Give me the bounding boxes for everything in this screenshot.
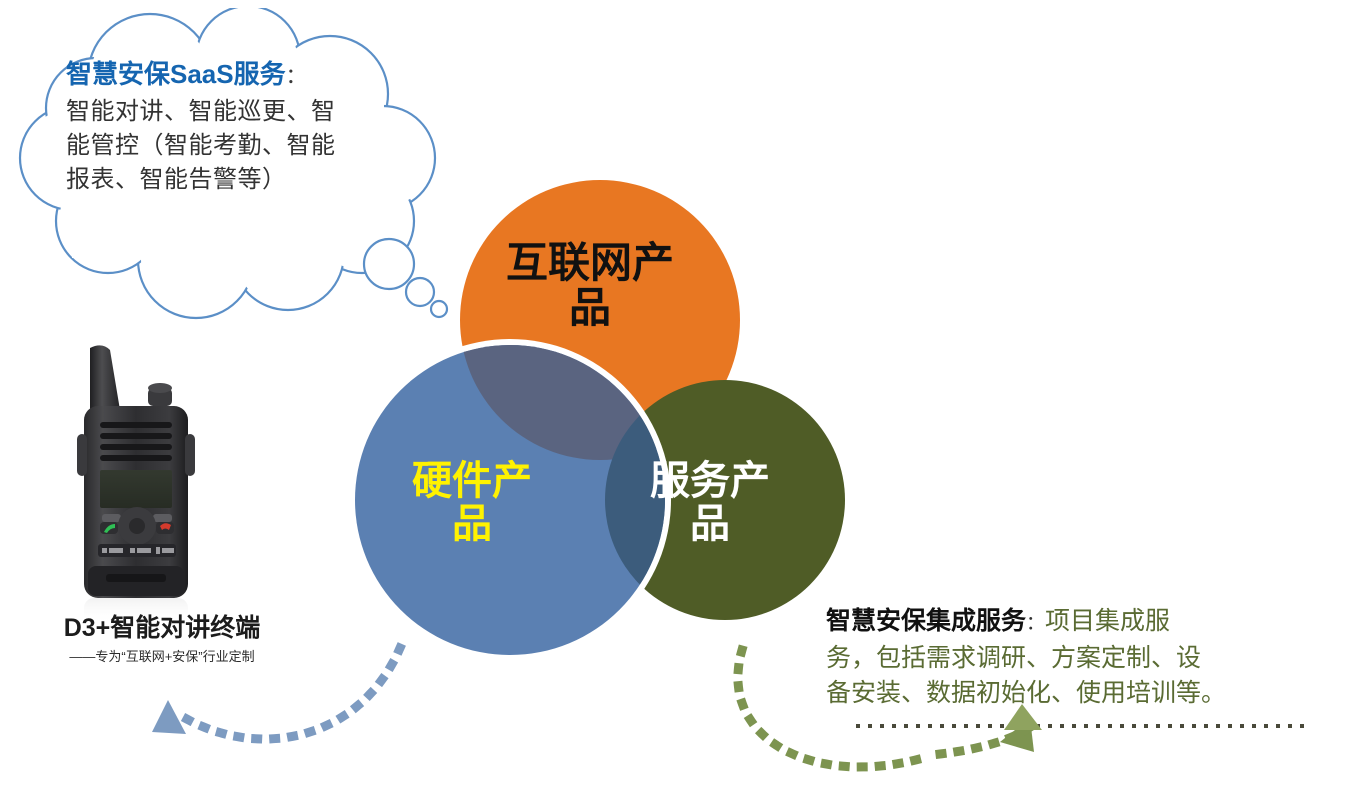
integration-service-line-1: 智慧安保集成服务：项目集成服 [826,604,1326,641]
integration-service-heading: 智慧安保集成服务 [826,607,1026,635]
battery-vent [106,574,166,582]
left-arrowhead [152,700,186,734]
integration-service-line-2: 务，包括需求调研、方案定制、设 [826,641,1326,676]
cloud-title-colon: ： [286,65,307,88]
device-tagline: ——专为“互联网+安保”行业定制 [22,646,302,665]
integration-service-line-1-tail: 项目集成服 [1045,607,1170,635]
device-caption: D3+智能对讲终端 ——专为“互联网+安保”行业定制 [22,608,302,665]
integration-service-separator: ： [1026,613,1045,634]
right-arrowhead [1000,718,1034,752]
integration-service-text-block: 智慧安保集成服务：项目集成服 务，包括需求调研、方案定制、设 备安装、数据初始化… [826,604,1326,711]
integration-service-line-3: 备安装、数据初始化、使用培训等。 [826,676,1326,711]
device-screen [100,470,172,508]
cloud-body-line-2: 能管控（智能考勤、智能 [66,129,418,163]
side-grip-right [185,434,195,476]
cloud-body-line-1: 智能对讲、智能巡更、智 [66,95,418,129]
side-grip-left [77,434,87,476]
knob-top [148,383,172,393]
slide-canvas: 智慧安保SaaS服务： 智能对讲、智能巡更、智 能管控（智能考勤、智能 报表、智… [0,0,1348,794]
venn-circles [330,170,890,660]
device-name: D3+智能对讲终端 [22,608,302,644]
cloud-title: 智慧安保SaaS服务： [66,56,418,95]
softkey-right [153,514,172,522]
antenna [90,345,120,414]
dpad-center [129,518,145,534]
function-key-labels [102,547,174,554]
venn-diagram: 互联网产 品 硬件产 品 服务产 品 [330,170,890,660]
softkey-left [102,514,121,522]
right-dotted-arrow-path-tail [940,724,1034,754]
device-illustration: D3+智能对讲终端 ——专为“互联网+安保”行业定制 [22,330,312,670]
